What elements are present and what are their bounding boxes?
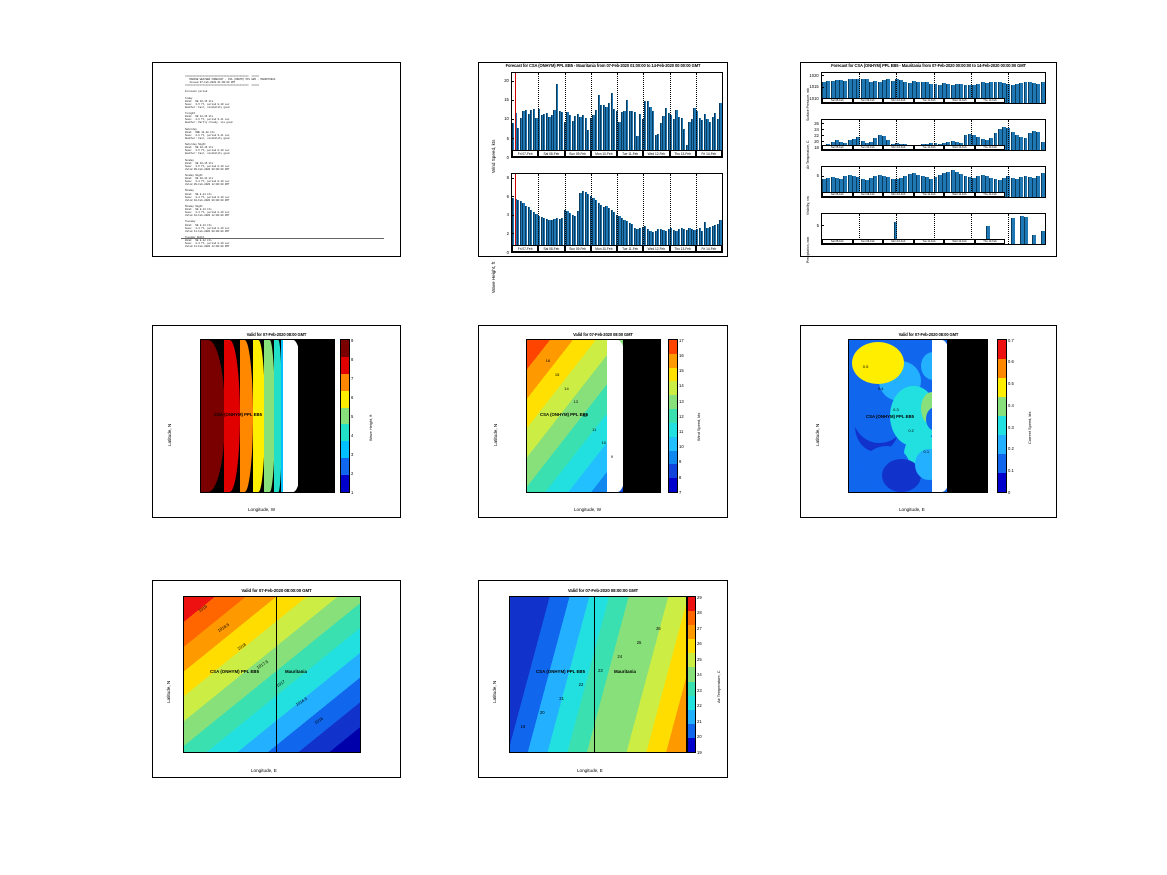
colorbar-swatch xyxy=(688,682,695,696)
gridline xyxy=(643,73,644,157)
wave-height-colorbar: 987654321 xyxy=(340,339,350,493)
gridline xyxy=(617,174,618,252)
date-band: Wed 12-Feb xyxy=(944,239,975,245)
axis-label-latitude: Latitude, N xyxy=(492,681,497,703)
current-time-line xyxy=(515,73,516,157)
colorbar-swatch xyxy=(669,464,677,478)
colorbar-swatch xyxy=(688,653,695,667)
site-marker-label: CSA (ONHYM) PPL EB5 xyxy=(536,669,585,674)
gridline xyxy=(670,73,671,157)
coastline-path xyxy=(594,597,595,752)
text-rule xyxy=(181,238,384,239)
axis-label-visibility: Visibility, nm xyxy=(806,196,810,215)
colorbar-swatch xyxy=(341,391,349,408)
colorbar-tick-label: 0.6 xyxy=(1008,359,1014,364)
y-tick-label: 10 xyxy=(504,116,509,121)
panel-air-temperature-map: Valid for 07-Feb-2020 08:00:00 GMT Latit… xyxy=(478,580,728,778)
y-tick-label: 5 xyxy=(817,173,819,178)
date-band: Wed 12-Feb xyxy=(643,150,669,157)
contour-label: 16 xyxy=(546,358,550,363)
y-tick-mark xyxy=(512,252,514,253)
y-tick-mark xyxy=(822,176,824,177)
date-band: Sat 08-Feb xyxy=(822,98,853,104)
date-band: Wed 12-Feb xyxy=(944,192,975,198)
colorbar-tick-label: 0 xyxy=(1008,490,1010,495)
date-band: Tue 11-Feb xyxy=(914,239,945,245)
colorbar-tick-label: 8 xyxy=(351,357,353,362)
date-band: Tue 11-Feb xyxy=(617,150,643,157)
y-tick-mark xyxy=(822,225,824,226)
colorbar-tick-label: 23 xyxy=(697,688,702,693)
wind-speed-colorbar: 1716151413121110987 xyxy=(668,339,678,493)
axis-label-longitude: Longitude, E xyxy=(899,507,925,512)
colorbar-tick-label: 13 xyxy=(679,399,684,404)
gridline xyxy=(538,73,539,157)
date-band: Sun 09-Feb xyxy=(853,145,884,151)
gridline xyxy=(591,73,592,157)
date-band: Fri 07-Feb xyxy=(512,245,538,252)
contour-label: 0.4 xyxy=(878,386,884,391)
gridline xyxy=(696,73,697,157)
pressure-plot-area: 10191018.510181017.510171016.510162019.5… xyxy=(183,596,361,753)
y-tick-label: 20 xyxy=(814,139,819,144)
colorbar-swatch xyxy=(669,354,677,368)
bar xyxy=(1041,231,1045,245)
colorbar-tick-label: 14 xyxy=(679,383,684,388)
contour-label: 0.3 xyxy=(893,407,899,412)
y-tick-label: 0 xyxy=(507,250,509,255)
contour-field xyxy=(510,597,686,752)
panel-wind-wave-timeseries: Forecast for CSA (ONHYM) PPL EB5 - Mauri… xyxy=(478,62,728,257)
y-tick-mark xyxy=(822,141,824,142)
date-band: Sat 08-Feb xyxy=(822,145,853,151)
bar xyxy=(1041,142,1045,150)
wind-speed-plot: 05101520Fri 07-FebSat 08-FebSun 09-FebMo… xyxy=(511,72,723,158)
y-tick-label: 1010 xyxy=(809,96,818,101)
colorbar-swatch xyxy=(998,359,1006,378)
temperature-plot: 1820222426Sat 08-FebSun 09-FebMon 10-Feb… xyxy=(821,119,1046,151)
date-band: Thu 13-Feb xyxy=(975,192,1006,198)
colorbar-tick-label: 6 xyxy=(351,395,353,400)
colorbar-swatch xyxy=(688,667,695,681)
site-marker-label: CSA (ONHYM) PPL EB5 xyxy=(866,414,914,419)
colorbar-tick-label: 1 xyxy=(351,490,353,495)
colorbar-swatch xyxy=(341,458,349,475)
contour-label: 23 xyxy=(598,668,603,673)
colorbar-swatch xyxy=(688,639,695,653)
colorbar-tick-label: 9 xyxy=(351,338,353,343)
colorbar-swatch xyxy=(341,340,349,357)
date-band: Sat 08-Feb xyxy=(538,245,564,252)
colorbar-tick-label: 0.7 xyxy=(1008,338,1014,343)
y-tick-label: 24 xyxy=(814,127,819,132)
colorbar-tick-label: 0.1 xyxy=(1008,468,1014,473)
colorbar-tick-label: 17 xyxy=(679,338,684,343)
colorbar-swatch xyxy=(341,441,349,458)
colorbar-tick-label: 0.4 xyxy=(1008,403,1014,408)
axis-label-longitude: Longitude, E xyxy=(577,768,603,773)
contour-blob xyxy=(852,342,904,385)
date-band: Wed 12-Feb xyxy=(643,245,669,252)
colorbar-swatch xyxy=(688,597,695,611)
gridline xyxy=(1008,214,1009,244)
site-marker-label: CSA (ONHYM) PPL EB5 xyxy=(540,412,588,417)
colorbar-swatch xyxy=(998,397,1006,416)
y-tick-mark xyxy=(512,81,514,82)
gridline xyxy=(591,174,592,252)
date-band: Thu 13-Feb xyxy=(975,145,1006,151)
colorbar-tick-label: 10 xyxy=(679,444,684,449)
colorbar-swatch xyxy=(669,409,677,423)
gridline xyxy=(538,174,539,252)
y-tick-label: 5 xyxy=(817,223,819,228)
colorbar-tick-label: 26 xyxy=(697,641,702,646)
contour-label: 11 xyxy=(592,427,596,432)
y-tick-mark xyxy=(512,119,514,120)
colorbar-tick-label: 11 xyxy=(679,429,683,434)
y-tick-label: 22 xyxy=(814,133,819,138)
colorbar-swatch xyxy=(669,451,677,465)
colorbar-swatch xyxy=(341,424,349,441)
gridline xyxy=(643,174,644,252)
axis-label-latitude: Latitude, N xyxy=(167,424,172,446)
contour-label: 14 xyxy=(564,386,568,391)
colorbar-tick-label: 0.2 xyxy=(1008,446,1014,451)
gridline xyxy=(1008,73,1009,103)
bar xyxy=(1041,173,1045,197)
gridline xyxy=(617,73,618,157)
colorbar-tick-label: 5 xyxy=(351,414,353,419)
colorbar-tick-label: 0.5 xyxy=(1008,381,1014,386)
y-tick-label: 18 xyxy=(814,145,819,150)
y-tick-mark xyxy=(512,138,514,139)
contour-label: 19 xyxy=(521,724,526,729)
bar xyxy=(1041,82,1045,103)
date-band: Fri 07-Feb xyxy=(512,150,538,157)
colorbar-swatch xyxy=(341,374,349,391)
date-band: Thu 13-Feb xyxy=(975,98,1006,104)
panel-text-report: ========================================… xyxy=(152,62,401,257)
colorbar-swatch xyxy=(688,724,695,738)
colorbar-tick-label: 21 xyxy=(697,719,702,724)
temperature-colorbar: 2928272625242322212019 xyxy=(687,596,696,753)
colorbar-swatch xyxy=(688,710,695,724)
y-tick-label: 1015 xyxy=(809,84,818,89)
colorbar-swatch xyxy=(669,395,677,409)
colorbar-swatch xyxy=(998,340,1006,359)
y-tick-mark xyxy=(822,87,824,88)
colorbar-swatch xyxy=(688,625,695,639)
contour-label: 26 xyxy=(656,626,661,631)
y-tick-mark xyxy=(822,75,824,76)
y-tick-mark xyxy=(512,100,514,101)
y-tick-label: 26 xyxy=(814,121,819,126)
bar xyxy=(1011,218,1015,244)
colorbar-tick-label: 19 xyxy=(697,750,702,755)
colorbar-swatch xyxy=(669,340,677,354)
date-band: Tue 11-Feb xyxy=(914,145,945,151)
current-time-line xyxy=(515,174,516,252)
wave-height-plot: 02468Fri 07-FebSat 08-FebSun 09-FebMon 1… xyxy=(511,173,723,253)
colorbar-tick-label: 3 xyxy=(351,452,353,457)
contour-label: 21 xyxy=(559,696,564,701)
gridline xyxy=(1008,167,1009,197)
contour-label: 10 xyxy=(601,440,605,445)
precipitation-plot: 5Sat 08-FebSun 09-FebMon 10-FebTue 11-Fe… xyxy=(821,213,1046,245)
colorbar-tick-label: 12 xyxy=(679,414,684,419)
y-tick-mark xyxy=(512,233,514,234)
gridline xyxy=(565,174,566,252)
site-marker-label: CSA (ONHYM) PPL EB5 xyxy=(210,669,259,674)
date-band: Sun 09-Feb xyxy=(853,192,884,198)
axis-label-latitude: Latitude, N xyxy=(166,681,171,703)
date-band: Sat 08-Feb xyxy=(822,192,853,198)
y-tick-label: 0 xyxy=(507,155,509,160)
date-band: Mon 10-Feb xyxy=(883,239,914,245)
date-band: Mon 10-Feb xyxy=(883,98,914,104)
date-band: Mon 10-Feb xyxy=(883,192,914,198)
bar xyxy=(719,103,721,157)
date-band: Thu 13-Feb xyxy=(670,150,696,157)
colorbar-swatch xyxy=(669,423,677,437)
date-band: Mon 10-Feb xyxy=(591,150,617,157)
colorbar-tick-label: 2 xyxy=(351,471,353,476)
colorbar-tick-label: 16 xyxy=(679,353,684,358)
date-band: Sat 08-Feb xyxy=(822,239,853,245)
pressure-plot: 101010151020Sat 08-FebSun 09-FebMon 10-F… xyxy=(821,72,1046,104)
axis-label-longitude: Longitude, W xyxy=(248,507,275,512)
colorbar-tick-label: 4 xyxy=(351,433,353,438)
axis-label-longitude: Longitude, E xyxy=(251,768,277,773)
colorbar-label: Wind Speed, kts xyxy=(696,413,701,441)
y-tick-mark xyxy=(512,215,514,216)
colorbar-swatch xyxy=(341,357,349,374)
y-tick-mark xyxy=(822,123,824,124)
axis-label-wind-speed: Wind Speed, kts xyxy=(491,140,496,173)
colorbar-tick-label: 29 xyxy=(697,595,702,600)
date-band: Mon 10-Feb xyxy=(591,245,617,252)
colorbar-label: Current Speed, kts xyxy=(1027,412,1032,444)
gridline xyxy=(696,174,697,252)
panel-current-speed-map: Valid for 07-Feb-2020 08:00 GMT Latitude… xyxy=(800,325,1057,518)
colorbar-swatch xyxy=(998,416,1006,435)
axis-label-pressure: Surface Pressure, mb xyxy=(806,88,810,121)
date-band: Fri 14-Feb xyxy=(696,150,722,157)
date-band: Sun 09-Feb xyxy=(853,98,884,104)
colorbar-tick-label: 25 xyxy=(697,657,702,662)
contour-label: 25 xyxy=(637,640,642,645)
colorbar-swatch xyxy=(669,368,677,382)
chart-title: Forecast for CSA (ONHYM) PPL EB5 - Mauri… xyxy=(481,63,725,68)
contour-label: 24 xyxy=(617,654,622,659)
date-band: Thu 13-Feb xyxy=(975,239,1006,245)
report-line: Valid 11-Feb-2020 12:00:00 GMT xyxy=(185,245,392,248)
y-tick-label: 6 xyxy=(507,194,509,199)
y-tick-label: 15 xyxy=(504,97,509,102)
map-title: Valid for 07-Feb-2020 08:00 GMT xyxy=(801,332,1056,337)
colorbar-tick-label: 8 xyxy=(679,475,681,480)
temperature-plot-area: 19202122232425262019.51918.51817.51716.5… xyxy=(509,596,687,753)
y-tick-label: 4 xyxy=(507,212,509,217)
date-band: Sat 08-Feb xyxy=(538,150,564,157)
colorbar-tick-label: 15 xyxy=(679,368,684,373)
y-tick-label: 5 xyxy=(507,136,509,141)
panel-wind-speed-map: Valid for 07-Feb-2020 08:00 GMT Latitude… xyxy=(478,325,728,518)
contour-label: 0.2 xyxy=(908,428,914,433)
land-mask xyxy=(298,340,334,492)
panel-met-timeseries: Forecast for CSA (ONHYM) PPL EB5 - Mauri… xyxy=(800,62,1057,257)
axis-label-temperature: Air Temperature, C xyxy=(806,141,810,169)
site-marker-label: CSA (ONHYM) PPL EB5 xyxy=(214,412,262,417)
colorbar-tick-label: 9 xyxy=(679,459,681,464)
colorbar-swatch xyxy=(688,696,695,710)
bar xyxy=(1032,235,1036,244)
land-mask xyxy=(623,340,660,492)
contour-label: 22 xyxy=(579,682,584,687)
current-speed-colorbar: 0.70.60.50.40.30.20.10 xyxy=(997,339,1007,493)
date-band: Tue 11-Feb xyxy=(914,192,945,198)
date-band: Thu 13-Feb xyxy=(670,245,696,252)
colorbar-swatch xyxy=(669,381,677,395)
date-band: Sun 09-Feb xyxy=(565,150,591,157)
contour-label: 0.1 xyxy=(924,449,930,454)
country-label: Mauritania xyxy=(614,669,636,674)
colorbar-tick-label: 7 xyxy=(351,376,353,381)
colorbar-swatch xyxy=(341,408,349,425)
map-title: Valid for 07-Feb-2020 08:00 GMT xyxy=(153,332,400,337)
contour-field xyxy=(184,597,360,752)
colorbar-label: Wave Height, ft xyxy=(368,415,373,441)
land-mask xyxy=(947,340,987,492)
axis-label-latitude: Latitude, N xyxy=(815,424,820,446)
contour-label: 15 xyxy=(555,372,559,377)
y-tick-mark xyxy=(512,196,514,197)
date-band: Wed 12-Feb xyxy=(944,98,975,104)
map-title: Valid for 07-Feb-2020 08:00:00 GMT xyxy=(479,588,727,593)
colorbar-swatch xyxy=(688,738,695,752)
axis-label-wave-height: Wave Height, ft xyxy=(491,262,496,293)
country-label: Mauritania xyxy=(285,669,307,674)
colorbar-swatch xyxy=(669,478,677,492)
colorbar-tick-label: 24 xyxy=(697,672,702,677)
y-tick-label: 8 xyxy=(507,175,509,180)
colorbar-tick-label: 0.3 xyxy=(1008,425,1014,430)
gridline xyxy=(565,73,566,157)
gridline xyxy=(1008,120,1009,150)
colorbar-swatch xyxy=(998,454,1006,473)
panel-surface-pressure-map: Valid for 07-Feb-2020 08:00:00 GMT Latit… xyxy=(152,580,401,778)
y-tick-mark xyxy=(512,157,514,158)
visibility-plot: 5Sat 08-FebSun 09-FebMon 10-FebTue 11-Fe… xyxy=(821,166,1046,198)
chart-title: Forecast for CSA (ONHYM) PPL EB5 - Mauri… xyxy=(803,63,1054,68)
date-band: Tue 11-Feb xyxy=(914,98,945,104)
panel-wave-height-map: Valid for 07-Feb-2020 08:00 GMT Latitude… xyxy=(152,325,401,518)
axis-label-longitude: Longitude, W xyxy=(574,507,601,512)
colorbar-tick-label: 22 xyxy=(697,703,702,708)
contour-label: 0.5 xyxy=(863,364,869,369)
contour-label: 20 xyxy=(540,710,545,715)
colorbar-swatch xyxy=(341,475,349,492)
date-band: Sun 09-Feb xyxy=(853,239,884,245)
colorbar-tick-label: 7 xyxy=(679,490,681,495)
colorbar-label: Air Temperature, C xyxy=(716,670,721,703)
date-band: Mon 10-Feb xyxy=(883,145,914,151)
colorbar-tick-label: 28 xyxy=(697,610,702,615)
map-title: Valid for 07-Feb-2020 08:00 GMT xyxy=(479,332,727,337)
y-tick-label: 20 xyxy=(504,78,509,83)
colorbar-tick-label: 27 xyxy=(697,626,702,631)
bar xyxy=(1024,217,1028,244)
colorbar-swatch xyxy=(998,378,1006,397)
coastline-path xyxy=(276,597,277,752)
colorbar-tick-label: 20 xyxy=(697,734,702,739)
contour-band xyxy=(264,340,275,492)
colorbar-swatch xyxy=(998,435,1006,454)
colorbar-swatch xyxy=(998,473,1006,492)
y-tick-label: 1020 xyxy=(809,73,818,78)
contour-label: 9 xyxy=(611,454,613,459)
map-title: Valid for 07-Feb-2020 08:00:00 GMT xyxy=(153,588,400,593)
contour-label: 13 xyxy=(574,399,578,404)
y-tick-label: 2 xyxy=(507,231,509,236)
date-band: Sun 09-Feb xyxy=(565,245,591,252)
date-band: Wed 12-Feb xyxy=(944,145,975,151)
forecast-text-body: ========================================… xyxy=(185,75,392,248)
y-tick-mark xyxy=(512,178,514,179)
date-band: Fri 14-Feb xyxy=(696,245,722,252)
colorbar-swatch xyxy=(688,611,695,625)
gridline xyxy=(670,174,671,252)
y-tick-mark xyxy=(822,129,824,130)
axis-label-precipitation: Precipitation, mm xyxy=(806,237,810,263)
axis-label-latitude: Latitude, N xyxy=(493,424,498,446)
y-tick-mark xyxy=(822,135,824,136)
date-band: Tue 11-Feb xyxy=(617,245,643,252)
colorbar-swatch xyxy=(669,437,677,451)
